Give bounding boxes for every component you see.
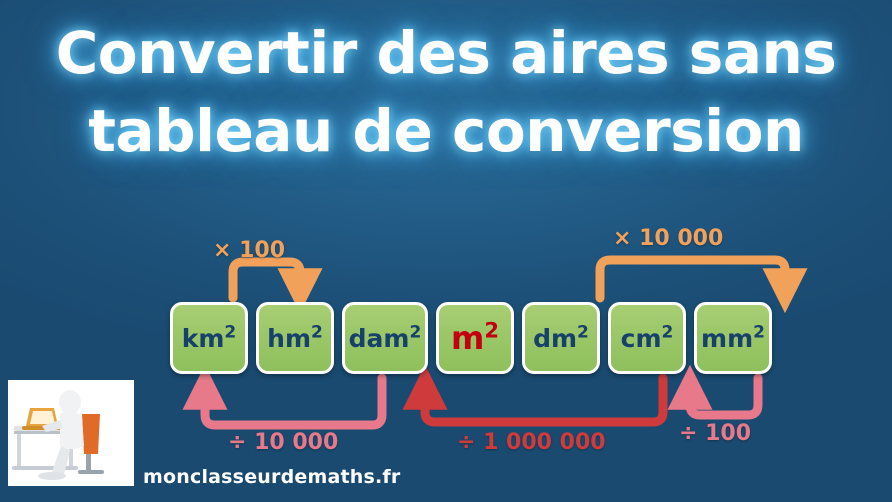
unit-box-hm2[interactable]: hm2 — [256, 302, 334, 374]
arrow-multiply-10000 — [600, 260, 785, 298]
unit-label-km2: km2 — [182, 326, 237, 351]
title-line-2: tableau de conversion — [0, 92, 892, 170]
unit-label-mm2: mm2 — [701, 326, 765, 351]
arrow-label-divide-10000: ÷ 10 000 — [228, 430, 338, 455]
arrow-divide-100 — [690, 378, 758, 415]
arrow-label-divide-1000000: ÷ 1 000 000 — [457, 430, 606, 455]
unit-box-cm2[interactable]: cm2 — [608, 302, 686, 374]
arrow-divide-10000 — [205, 378, 382, 425]
unit-boxes-row: km2 hm2 dam2 m2 dm2 cm2 mm2 — [170, 302, 772, 374]
unit-box-dm2[interactable]: dm2 — [522, 302, 600, 374]
arrow-label-multiply-10000: × 10 000 — [613, 226, 723, 251]
unit-box-m2[interactable]: m2 — [436, 302, 514, 374]
arrow-multiply-100 — [233, 262, 300, 298]
person-at-desk-icon — [8, 380, 134, 486]
unit-label-m2: m2 — [451, 322, 499, 354]
unit-label-dam2: dam2 — [349, 326, 422, 351]
unit-label-hm2: hm2 — [267, 326, 323, 351]
unit-label-cm2: cm2 — [621, 326, 674, 351]
site-name: monclasseurdemaths.fr — [143, 466, 400, 488]
unit-box-mm2[interactable]: mm2 — [694, 302, 772, 374]
title-line-1: Convertir des aires sans — [0, 14, 892, 92]
arrow-label-multiply-100: × 100 — [213, 238, 285, 263]
page-title: Convertir des aires sans tableau de conv… — [0, 14, 892, 170]
unit-box-km2[interactable]: km2 — [170, 302, 248, 374]
arrow-label-divide-100: ÷ 100 — [679, 421, 751, 446]
unit-label-dm2: dm2 — [533, 326, 589, 351]
unit-box-dam2[interactable]: dam2 — [342, 302, 428, 374]
slide-canvas: Convertir des aires sans tableau de conv… — [0, 0, 892, 502]
arrow-divide-1000000 — [425, 378, 663, 422]
